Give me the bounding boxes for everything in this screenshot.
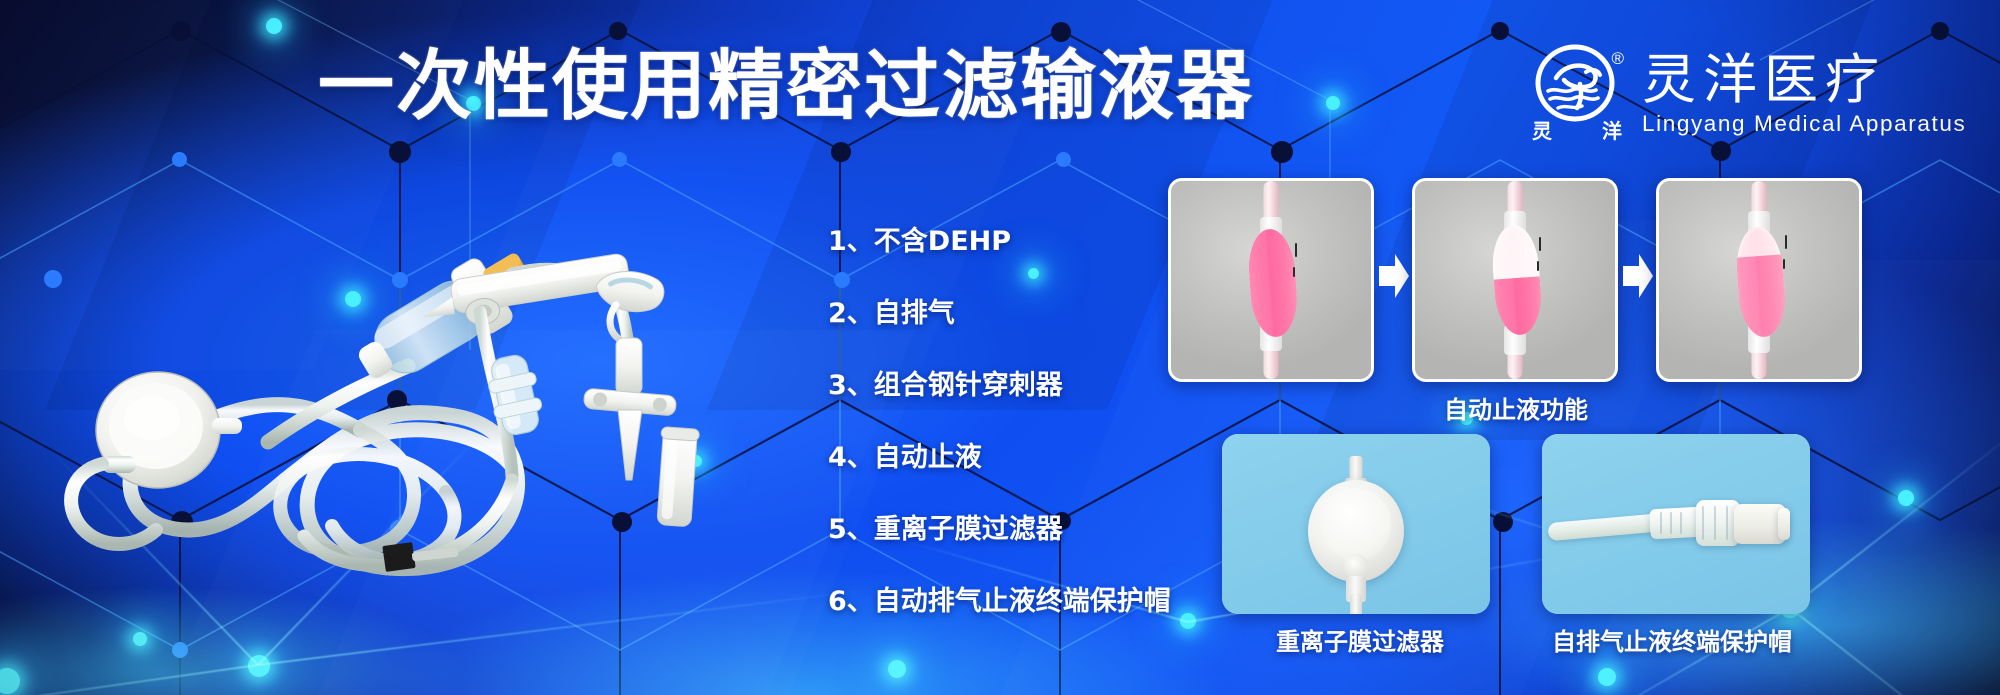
feature-item: 2、自排气 bbox=[828, 300, 1218, 327]
registered-trademark-icon: ® bbox=[1611, 50, 1624, 67]
feature-item: 1、不含DEHP bbox=[828, 228, 1218, 255]
page-title: 一次性使用精密过滤输液器 bbox=[318, 48, 1254, 124]
sequence-photo-3 bbox=[1656, 178, 1862, 382]
sequence-photo-1 bbox=[1168, 178, 1374, 382]
logo-mark-characters: 灵 洋 bbox=[1528, 115, 1626, 144]
sequence-caption: 自动止液功能 bbox=[1444, 390, 1588, 425]
company-name-cn: 灵洋医疗 bbox=[1642, 51, 1886, 108]
company-logo: ® 灵 洋 灵洋医疗 Lingyang Medical Apparatus bbox=[1528, 44, 1966, 144]
dolphin-wave-emblem-icon bbox=[1534, 44, 1616, 122]
feature-item: 5、重离子膜过滤器 bbox=[828, 516, 1218, 543]
sequence-photo-2 bbox=[1412, 178, 1618, 382]
logo-text-block: 灵洋医疗 Lingyang Medical Apparatus bbox=[1642, 51, 1966, 136]
feature-item: 3、组合钢针穿刺器 bbox=[828, 372, 1218, 399]
protector-cap-part bbox=[655, 427, 700, 527]
product-banner: 一次性使用精密过滤输液器 ® 灵 洋 灵洋医疗 Lingyang Medical… bbox=[0, 0, 2000, 695]
filter-photo-card bbox=[1222, 434, 1490, 614]
company-name-en: Lingyang Medical Apparatus bbox=[1642, 111, 1966, 137]
sequence-arrow-1-icon bbox=[1377, 252, 1411, 300]
filter-photo-caption: 重离子膜过滤器 bbox=[1276, 622, 1444, 657]
end-cap-photo-card bbox=[1542, 434, 1810, 614]
main-product-photo bbox=[60, 180, 820, 580]
end-cap-photo-caption: 自排气止液终端保护帽 bbox=[1552, 622, 1792, 657]
logo-emblem-wrap: ® 灵 洋 bbox=[1528, 44, 1626, 144]
logo-mark-char-1: 灵 bbox=[1532, 115, 1552, 144]
filter-disc-part bbox=[96, 372, 220, 488]
sequence-arrow-2-icon bbox=[1621, 252, 1655, 300]
logo-mark-char-2: 洋 bbox=[1602, 115, 1622, 144]
feature-item: 4、自动止液 bbox=[828, 444, 1218, 471]
feature-list: 1、不含DEHP 2、自排气 3、组合钢针穿刺器 4、自动止液 5、重离子膜过滤… bbox=[828, 228, 1218, 615]
feature-item: 6、自动排气止液终端保护帽 bbox=[828, 588, 1218, 615]
